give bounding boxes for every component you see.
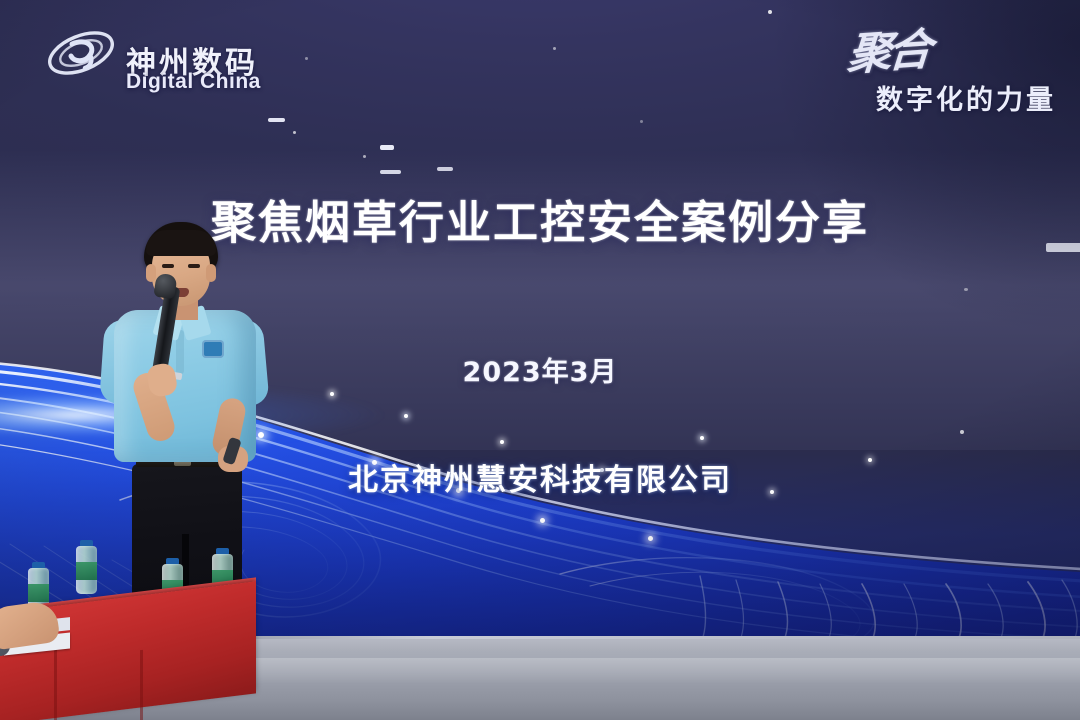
light-particle — [553, 47, 556, 50]
light-particle — [268, 118, 285, 122]
event-tagline: 数字化的力量 — [876, 78, 1056, 117]
light-particle — [380, 145, 394, 150]
event-logo: 聚合 数字化的力量 — [786, 16, 1056, 112]
stage-scene: 聚焦烟草行业工控安全案例分享 2023年3月 北京神州慧安科技有限公司 神州数码… — [0, 0, 1080, 720]
light-particle — [380, 170, 401, 174]
event-calligraphy: 聚合 — [845, 13, 930, 82]
swirl-logo-icon — [44, 22, 118, 84]
light-particle — [437, 167, 453, 171]
speaker-eye-right — [188, 264, 200, 268]
light-particle — [640, 120, 643, 123]
digital-china-en-name: Digital China — [126, 70, 261, 94]
light-particle — [363, 155, 366, 158]
shirt-chest-logo — [202, 340, 224, 358]
light-particle — [964, 288, 968, 291]
digital-china-logo: 神州数码 Digital China — [44, 18, 294, 90]
speaker-fringe — [146, 230, 216, 256]
light-particle — [768, 10, 772, 14]
speaker-eye-left — [162, 264, 174, 268]
light-particle — [293, 131, 296, 134]
speaker-ear-right — [206, 264, 216, 282]
speaker-ear-left — [146, 264, 156, 282]
light-particle — [305, 57, 308, 60]
cloth-fold — [140, 650, 143, 720]
